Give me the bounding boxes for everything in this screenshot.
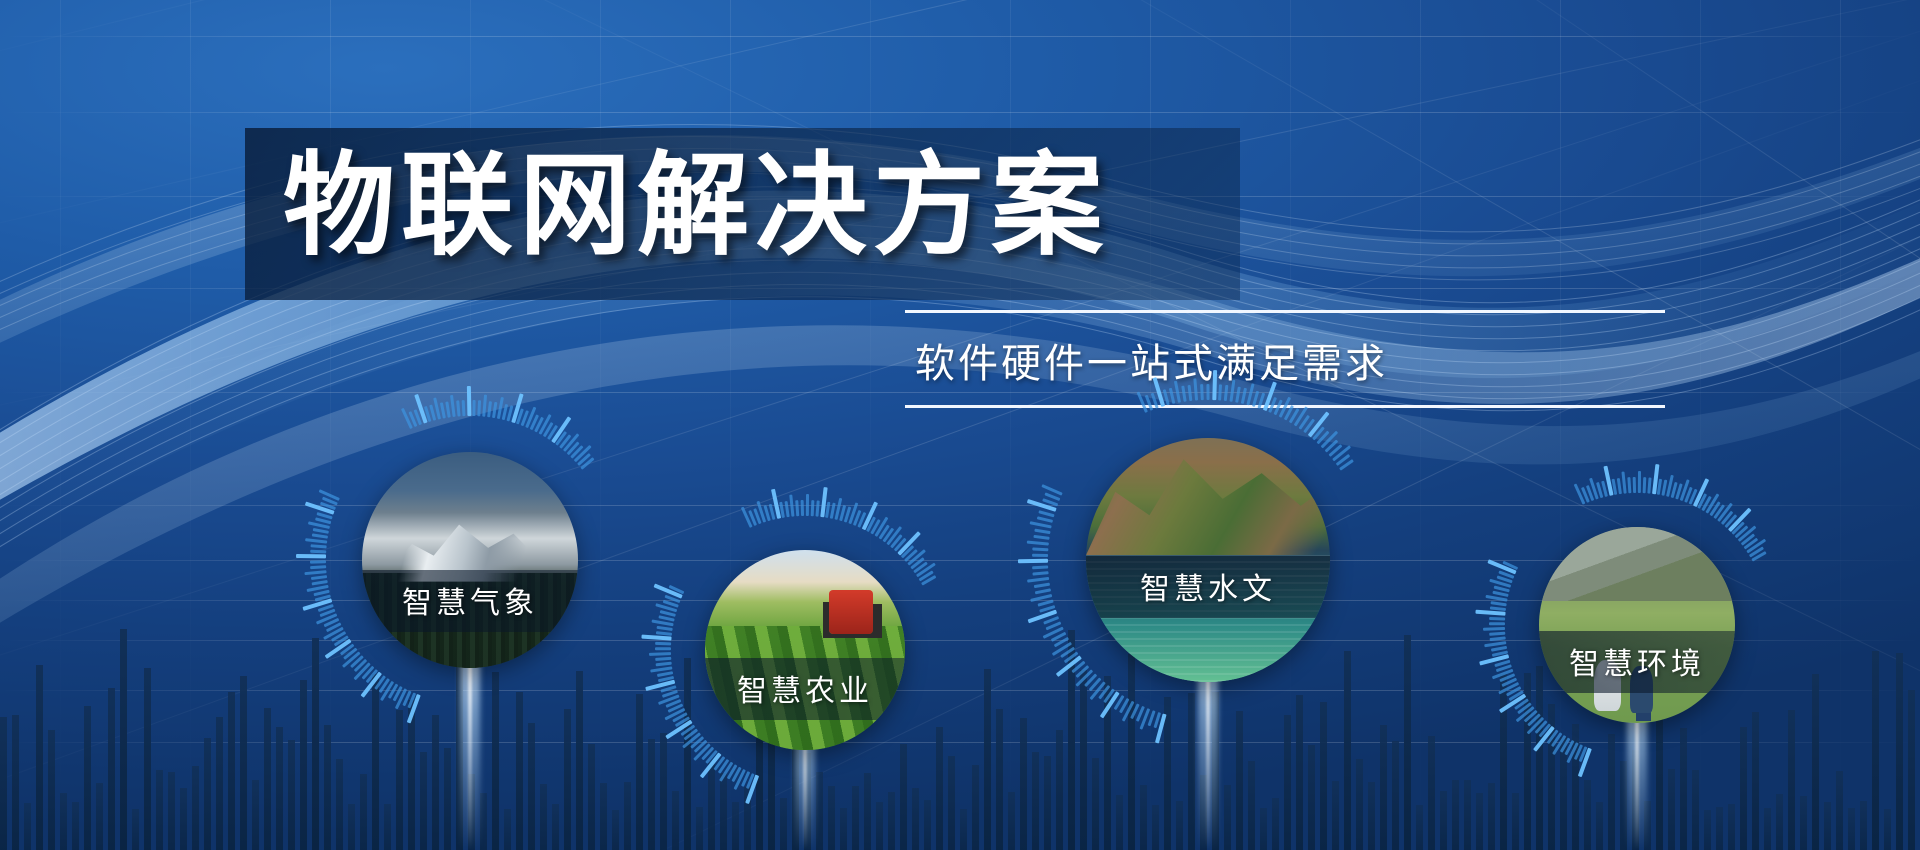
ring-tick: [675, 717, 690, 727]
ring-tick: [314, 590, 330, 596]
ring-tick: [839, 505, 845, 521]
ring-tick: [1485, 595, 1507, 601]
ring-tick: [1746, 539, 1766, 553]
ring-tick: [1506, 687, 1521, 697]
ring-tick: [296, 554, 326, 558]
ring-tick: [462, 400, 465, 416]
ring-tick: [882, 528, 893, 542]
ring-tick: [305, 539, 327, 544]
ring-tick: [1697, 493, 1707, 508]
ring-tick: [1751, 551, 1766, 561]
ring-tick: [1627, 477, 1631, 493]
ring-tick: [660, 611, 676, 617]
ring-tick: [1188, 385, 1192, 401]
ring-tick: [334, 636, 349, 647]
feature-photo-disc[interactable]: 智慧气象: [362, 452, 578, 668]
ring-tick: [919, 570, 934, 581]
ring-tick: [1137, 392, 1148, 413]
ring-tick: [414, 394, 427, 424]
ring-tick: [789, 495, 794, 517]
ring-tick: [801, 500, 804, 516]
ring-tick: [305, 502, 335, 515]
ring-tick: [1633, 477, 1636, 493]
ring-tick: [1064, 652, 1078, 663]
ring-tick: [1579, 746, 1587, 762]
ring-tick: [1027, 499, 1057, 512]
ring-tick: [1657, 479, 1662, 495]
ring-tick: [1643, 477, 1646, 493]
ring-tick: [1153, 377, 1166, 407]
ring-tick: [1100, 691, 1120, 718]
ring-tick: [866, 516, 876, 531]
feature-circle-4[interactable]: 智慧环境: [1469, 457, 1805, 793]
ring-tick: [343, 648, 357, 660]
ring-tick: [1484, 642, 1506, 648]
ring-tick: [658, 616, 674, 622]
ring-tick: [904, 549, 918, 562]
ring-tick: [1056, 655, 1082, 677]
ring-tick: [1497, 576, 1513, 583]
ring-tick: [664, 595, 680, 603]
ring-tick: [361, 672, 382, 698]
ring-tick: [408, 693, 416, 709]
ring-tick: [771, 489, 781, 519]
feature-circle-2[interactable]: 智慧农业: [635, 480, 975, 820]
ring-tick: [506, 405, 512, 421]
ring-tick: [497, 397, 504, 419]
ring-tick: [700, 752, 722, 778]
ring-tick: [433, 398, 440, 420]
ring-tick: [1724, 514, 1736, 528]
ring-tick: [651, 620, 673, 626]
ring-tick: [318, 604, 334, 612]
ring-tick: [1581, 487, 1589, 503]
ring-tick: [1560, 738, 1570, 753]
ring-tick: [308, 522, 330, 529]
ring-tick: [323, 627, 343, 640]
ring-tick: [1524, 710, 1538, 722]
ring-tick: [748, 510, 756, 526]
ring-tick: [1200, 384, 1203, 400]
ring-tick: [380, 681, 394, 701]
ring-tick: [806, 494, 809, 516]
ring-tick: [1553, 735, 1567, 755]
ring-tick: [511, 393, 523, 423]
ring-tick: [375, 675, 386, 689]
ring-tick: [1713, 504, 1724, 518]
ring-tick: [913, 561, 927, 572]
ring-tick: [366, 669, 378, 683]
ring-tick: [407, 694, 421, 724]
ring-tick: [681, 725, 696, 736]
ring-tick: [429, 405, 435, 421]
ring-tick: [879, 525, 890, 540]
ring-tick: [1140, 708, 1150, 729]
ring-tick: [1494, 660, 1510, 667]
feature-circle-1[interactable]: 智慧气象: [290, 380, 650, 740]
ring-tick: [311, 576, 327, 580]
ring-tick: [1046, 622, 1062, 631]
ring-tick: [1596, 482, 1603, 498]
ring-tick: [734, 769, 746, 790]
ring-tick: [1490, 602, 1506, 607]
ring-tick: [1744, 538, 1758, 549]
ring-tick: [316, 513, 332, 520]
ring-tick: [825, 502, 830, 518]
ring-tick: [1174, 381, 1181, 403]
ring-tick: [1298, 415, 1309, 430]
ring-tick: [319, 490, 340, 501]
ring-tick: [456, 400, 460, 416]
ring-tick: [844, 506, 851, 522]
ring-tick: [665, 720, 692, 740]
ring-tick: [1099, 685, 1111, 699]
ring-tick: [1475, 610, 1505, 616]
ring-tick: [1030, 522, 1052, 529]
ring-tick: [401, 408, 412, 429]
ring-tick: [1032, 554, 1048, 557]
ring-tick: [487, 401, 491, 417]
ring-tick: [848, 502, 857, 524]
ring-tick: [815, 500, 819, 516]
ring-tick: [785, 501, 790, 517]
ring-tick: [811, 500, 814, 516]
ring-tick: [1090, 682, 1106, 701]
ring-tick: [1490, 607, 1506, 611]
ring-tick: [1617, 478, 1622, 494]
ring-tick: [1257, 393, 1264, 409]
ring-tick: [1498, 571, 1514, 579]
ring-tick: [862, 501, 878, 530]
ring-tick: [1154, 712, 1161, 728]
ring-tick: [1060, 647, 1075, 658]
ring-tick: [1206, 384, 1209, 400]
ring-tick: [1509, 691, 1524, 701]
ring-tick: [1717, 503, 1732, 522]
ring-tick: [1638, 471, 1641, 493]
ring-tick: [921, 575, 936, 585]
ring-tick: [1193, 378, 1197, 400]
ring-tick: [655, 642, 671, 645]
ring-tick: [403, 691, 412, 707]
ring-tick: [1032, 566, 1048, 569]
ring-tick: [666, 699, 682, 707]
ring-tick: [1498, 682, 1519, 694]
ring-tick: [1586, 485, 1594, 501]
ring-tick: [1735, 525, 1749, 538]
ring-tick: [763, 505, 770, 521]
ring-tick: [1567, 742, 1579, 763]
ring-tick: [1043, 627, 1064, 639]
ring-tick: [379, 678, 390, 693]
ring-tick: [1539, 724, 1551, 738]
ring-tick: [1612, 479, 1617, 495]
ring-tick: [1565, 740, 1575, 755]
ring-tick: [830, 503, 835, 519]
ring-tick: [1689, 489, 1698, 505]
ring-tick: [320, 502, 336, 510]
ring-tick: [1489, 617, 1505, 620]
ring-tick: [315, 595, 331, 602]
ring-tick: [547, 425, 558, 440]
ring-tick: [1034, 583, 1050, 588]
ring-tick: [756, 501, 765, 523]
ring-tick: [668, 704, 684, 713]
ring-tick: [1169, 388, 1175, 404]
ring-tick: [325, 639, 352, 659]
ring-tick: [1551, 733, 1562, 748]
ring-tick: [654, 583, 683, 598]
ring-tick: [1263, 382, 1277, 412]
ring-tick: [1709, 501, 1720, 516]
ring-tick: [660, 686, 676, 693]
ring-tick: [741, 771, 750, 787]
ring-tick: [1155, 714, 1167, 744]
ring-tick: [727, 764, 737, 779]
ring-tick: [302, 598, 332, 611]
ring-tick: [1224, 385, 1228, 401]
ring-tick: [1675, 483, 1682, 499]
ring-tick: [834, 498, 841, 520]
ring-tick: [320, 609, 336, 617]
ring-tick: [658, 676, 674, 682]
ring-tick: [1491, 646, 1507, 651]
ring-tick: [719, 762, 733, 782]
ring-tick: [322, 497, 338, 505]
ring-tick: [1252, 391, 1259, 407]
ring-tick: [559, 434, 571, 448]
ring-tick: [691, 736, 705, 748]
ring-tick: [1741, 533, 1755, 545]
ring-tick: [315, 518, 331, 524]
ring-tick: [1516, 706, 1535, 722]
ring-tick: [1547, 730, 1559, 744]
ring-tick: [1038, 511, 1054, 518]
ring-tick: [1684, 487, 1692, 503]
ring-tick: [1163, 389, 1170, 405]
ring-tick: [1492, 651, 1508, 657]
ring-tick: [779, 502, 784, 518]
ring-tick: [663, 600, 679, 607]
ring-tick: [311, 545, 327, 549]
ring-tick: [907, 549, 925, 565]
ring-tick: [1303, 419, 1315, 433]
ring-tick: [746, 773, 754, 789]
ring-tick: [669, 585, 685, 594]
ring-tick: [1578, 748, 1592, 778]
ring-tick: [1496, 665, 1512, 672]
ring-tick: [650, 667, 672, 673]
ring-tick: [1328, 444, 1342, 456]
ring-tick: [890, 534, 902, 548]
ring-tick: [525, 407, 536, 428]
ring-tick: [1289, 408, 1299, 423]
ring-tick: [543, 422, 553, 437]
ring-tick: [408, 411, 416, 427]
ring-tick: [1479, 654, 1509, 665]
ring-tick: [1502, 561, 1518, 570]
ring-tick: [1603, 466, 1613, 496]
ring-tick: [362, 666, 374, 680]
feature-circle-group: 智慧气象智慧农业智慧水文智慧环境: [0, 0, 1920, 850]
ring-tick: [521, 410, 529, 426]
ring-tick: [656, 632, 672, 636]
feature-label: 智慧气象: [362, 570, 578, 632]
ring-tick: [1738, 525, 1756, 541]
ring-tick: [1028, 610, 1058, 624]
ring-tick: [1489, 632, 1505, 636]
ring-tick: [1661, 480, 1666, 496]
ring-tick: [310, 561, 326, 564]
ring-tick: [1131, 704, 1140, 720]
ring-tick: [580, 457, 594, 469]
feature-photo-disc[interactable]: 智慧水文: [1086, 438, 1330, 682]
ring-tick: [467, 386, 472, 416]
ring-tick: [1145, 395, 1153, 411]
ring-tick: [657, 672, 673, 677]
ring-tick: [1490, 637, 1506, 641]
ring-tick: [1051, 632, 1066, 642]
ring-tick: [1705, 493, 1719, 513]
ring-tick: [1122, 701, 1134, 722]
ring-tick: [472, 400, 475, 416]
ring-tick: [649, 653, 671, 656]
ring-tick: [1151, 393, 1159, 409]
ring-tick: [316, 614, 337, 625]
ring-tick: [530, 414, 539, 430]
ring-tick: [655, 604, 677, 613]
snow-mountain-forest-photo: [362, 452, 578, 668]
ring-tick: [741, 507, 752, 528]
ring-tick: [477, 400, 480, 416]
ring-tick: [706, 750, 718, 764]
ring-tick: [551, 416, 571, 443]
ring-tick: [1489, 623, 1505, 626]
ring-tick: [655, 657, 671, 661]
ring-tick: [1533, 726, 1555, 752]
ring-tick: [1574, 744, 1583, 760]
ring-tick: [1136, 706, 1145, 722]
ring-tick: [658, 695, 679, 705]
feature-label: 智慧农业: [705, 658, 905, 720]
ring-tick: [1072, 661, 1086, 673]
ring-tick: [555, 431, 566, 445]
ring-tick: [313, 528, 329, 533]
ring-tick: [684, 729, 698, 741]
ring-tick: [662, 690, 678, 697]
ring-tick: [874, 517, 888, 537]
ring-tick: [1693, 478, 1709, 507]
ring-tick: [753, 508, 761, 524]
ring-tick: [1119, 698, 1129, 713]
ring-tick: [645, 680, 675, 691]
ring-tick: [340, 644, 354, 656]
ring-tick: [1038, 600, 1054, 607]
feature-label: 智慧水文: [1086, 556, 1330, 618]
ring-tick: [1492, 669, 1513, 679]
ring-tick: [1033, 535, 1049, 539]
ring-tick: [577, 453, 591, 466]
ring-tick: [1652, 464, 1659, 494]
ring-tick: [641, 635, 671, 641]
ring-tick: [326, 623, 341, 632]
farm-field-tractor-photo: [705, 550, 905, 750]
ring-tick: [1487, 559, 1516, 574]
feature-photo-disc[interactable]: 智慧农业: [705, 550, 905, 750]
ring-tick: [1294, 406, 1308, 426]
ring-tick: [450, 395, 455, 417]
ring-tick: [1035, 589, 1051, 595]
ring-tick: [853, 510, 861, 526]
ring-tick: [312, 580, 328, 585]
ring-tick: [1483, 627, 1505, 630]
ring-tick: [1332, 445, 1351, 461]
ring-tick: [769, 504, 775, 520]
ring-tick: [1148, 710, 1156, 726]
ring-tick: [1030, 594, 1052, 602]
ring-tick: [1589, 478, 1598, 500]
ring-tick: [440, 402, 445, 418]
ring-tick: [1492, 591, 1508, 597]
ring-tick: [1041, 485, 1062, 496]
ring-tick: [718, 759, 729, 774]
ring-tick: [795, 500, 799, 516]
ring-tick: [1749, 546, 1764, 557]
ring-tick: [1284, 405, 1294, 420]
ring-tick: [1336, 454, 1350, 466]
ring-tick: [1027, 577, 1049, 582]
ring-tick: [492, 402, 497, 418]
feature-photo-disc[interactable]: 智慧环境: [1539, 527, 1735, 723]
ring-tick: [516, 408, 523, 424]
ring-tick: [1114, 695, 1124, 710]
ring-tick: [1032, 548, 1048, 551]
ring-tick: [502, 404, 508, 420]
ring-tick: [1268, 397, 1276, 413]
ring-tick: [1241, 388, 1247, 404]
ring-tick: [1489, 579, 1511, 588]
ring-tick: [1043, 616, 1059, 624]
ring-tick: [870, 519, 880, 534]
ring-tick: [820, 487, 827, 517]
ring-tick: [857, 512, 866, 528]
ring-tick: [1494, 586, 1510, 592]
ring-tick: [1018, 559, 1048, 564]
ring-tick: [655, 648, 671, 651]
ring-tick: [482, 395, 486, 417]
ring-tick: [324, 618, 340, 627]
ring-tick: [388, 684, 398, 699]
ring-tick: [910, 557, 924, 569]
ring-tick: [672, 713, 687, 723]
feature-circle-3[interactable]: 智慧水文: [1012, 364, 1404, 756]
ring-tick: [886, 526, 901, 545]
ring-tick: [1044, 493, 1060, 501]
ring-tick: [393, 686, 403, 701]
ring-tick: [1500, 674, 1516, 682]
ring-tick: [1601, 481, 1607, 497]
feature-label: 智慧环境: [1539, 631, 1735, 693]
ring-tick: [1218, 384, 1221, 400]
ring-tick: [1039, 606, 1055, 613]
ring-tick: [307, 585, 329, 592]
ring-tick: [312, 534, 328, 539]
ring-tick: [682, 733, 701, 749]
ring-tick: [1229, 380, 1234, 402]
ring-tick: [445, 402, 450, 418]
ring-tick: [1499, 694, 1526, 714]
ring-tick: [1273, 399, 1282, 415]
